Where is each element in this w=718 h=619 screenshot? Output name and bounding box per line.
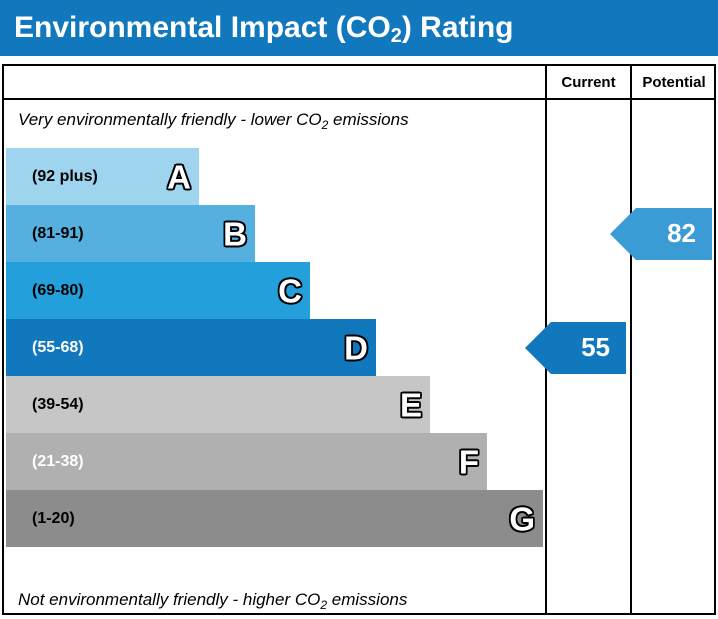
band-letter-g: G xyxy=(509,502,535,535)
band-range-label: (1-20) xyxy=(32,510,75,528)
band-range-label: (39-54) xyxy=(32,396,84,414)
caption-top-suffix: emissions xyxy=(328,110,408,129)
current-rating-marker: 55 xyxy=(551,322,626,374)
title-prefix: Environmental Impact (CO xyxy=(14,11,391,44)
rating-band-c: (69-80)C xyxy=(6,262,310,319)
table-header-row: Current Potential xyxy=(4,66,714,100)
column-header-current: Current xyxy=(547,66,630,98)
rating-band-f: (21-38)F xyxy=(6,433,487,490)
caption-bottom-prefix: Not environmentally friendly - higher CO xyxy=(18,590,320,609)
column-header-potential: Potential xyxy=(632,66,716,98)
title-subscript: 2 xyxy=(391,25,402,47)
epc-environmental-impact-chart: Environmental Impact (CO2) Rating Curren… xyxy=(0,0,718,619)
band-range-label: (69-80) xyxy=(32,282,84,300)
rating-band-d: (55-68)D xyxy=(6,319,376,376)
band-letter-a: A xyxy=(167,160,191,193)
caption-bottom-subscript: 2 xyxy=(320,598,327,612)
band-letter-f: F xyxy=(459,445,479,478)
caption-top: Very environmentally friendly - lower CO… xyxy=(18,110,409,130)
current-rating-value: 55 xyxy=(581,332,610,363)
rating-band-a: (92 plus)A xyxy=(6,148,199,205)
column-divider-potential xyxy=(630,66,632,613)
rating-band-g: (1-20)G xyxy=(6,490,543,547)
marker-arrow-icon xyxy=(610,208,636,260)
marker-arrow-icon xyxy=(525,322,551,374)
band-letter-b: B xyxy=(223,217,247,250)
rating-band-e: (39-54)E xyxy=(6,376,430,433)
caption-bottom-suffix: emissions xyxy=(327,590,407,609)
potential-rating-value: 82 xyxy=(667,218,696,249)
caption-top-prefix: Very environmentally friendly - lower CO xyxy=(18,110,322,129)
band-range-label: (21-38) xyxy=(32,453,84,471)
chart-title-bar: Environmental Impact (CO2) Rating xyxy=(0,0,718,56)
page-title: Environmental Impact (CO2) Rating xyxy=(14,11,514,45)
band-range-label: (55-68) xyxy=(32,339,84,357)
title-suffix: ) Rating xyxy=(402,11,514,44)
rating-band-b: (81-91)B xyxy=(6,205,255,262)
potential-rating-marker: 82 xyxy=(636,208,712,260)
caption-top-subscript: 2 xyxy=(322,118,329,132)
band-range-label: (92 plus) xyxy=(32,168,98,186)
band-letter-d: D xyxy=(344,331,368,364)
chart-table-frame: Current Potential Very environmentally f… xyxy=(2,64,716,615)
band-range-label: (81-91) xyxy=(32,225,84,243)
caption-bottom: Not environmentally friendly - higher CO… xyxy=(18,590,407,610)
band-letter-e: E xyxy=(400,388,422,421)
band-letter-c: C xyxy=(278,274,302,307)
